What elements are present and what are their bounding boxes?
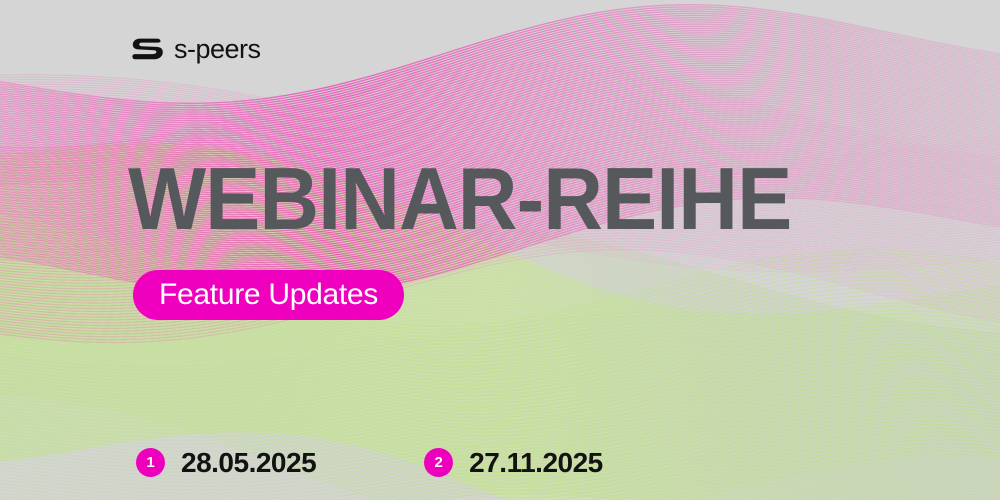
date-label: 28.05.2025 — [181, 449, 316, 477]
brand-logo[interactable]: s-peers — [132, 36, 261, 63]
webinar-banner: s-peers WEBINAR-REIHE Feature Updates 1 … — [0, 0, 1000, 500]
background-wave-pattern — [0, 0, 1000, 500]
status-badge-label: Feature Updates — [159, 280, 378, 310]
status-badge: Feature Updates — [133, 270, 404, 320]
date-list: 1 28.05.2025 2 27.11.2025 — [136, 448, 603, 477]
date-number-badge: 2 — [424, 448, 453, 477]
date-number-badge: 1 — [136, 448, 165, 477]
brand-wordmark: s-peers — [174, 36, 261, 63]
list-item[interactable]: 1 28.05.2025 — [136, 448, 316, 477]
list-item[interactable]: 2 27.11.2025 — [424, 448, 603, 477]
s-peers-logo-mark-icon — [132, 38, 164, 62]
page-title: WEBINAR-REIHE — [128, 155, 791, 243]
date-label: 27.11.2025 — [469, 449, 603, 477]
